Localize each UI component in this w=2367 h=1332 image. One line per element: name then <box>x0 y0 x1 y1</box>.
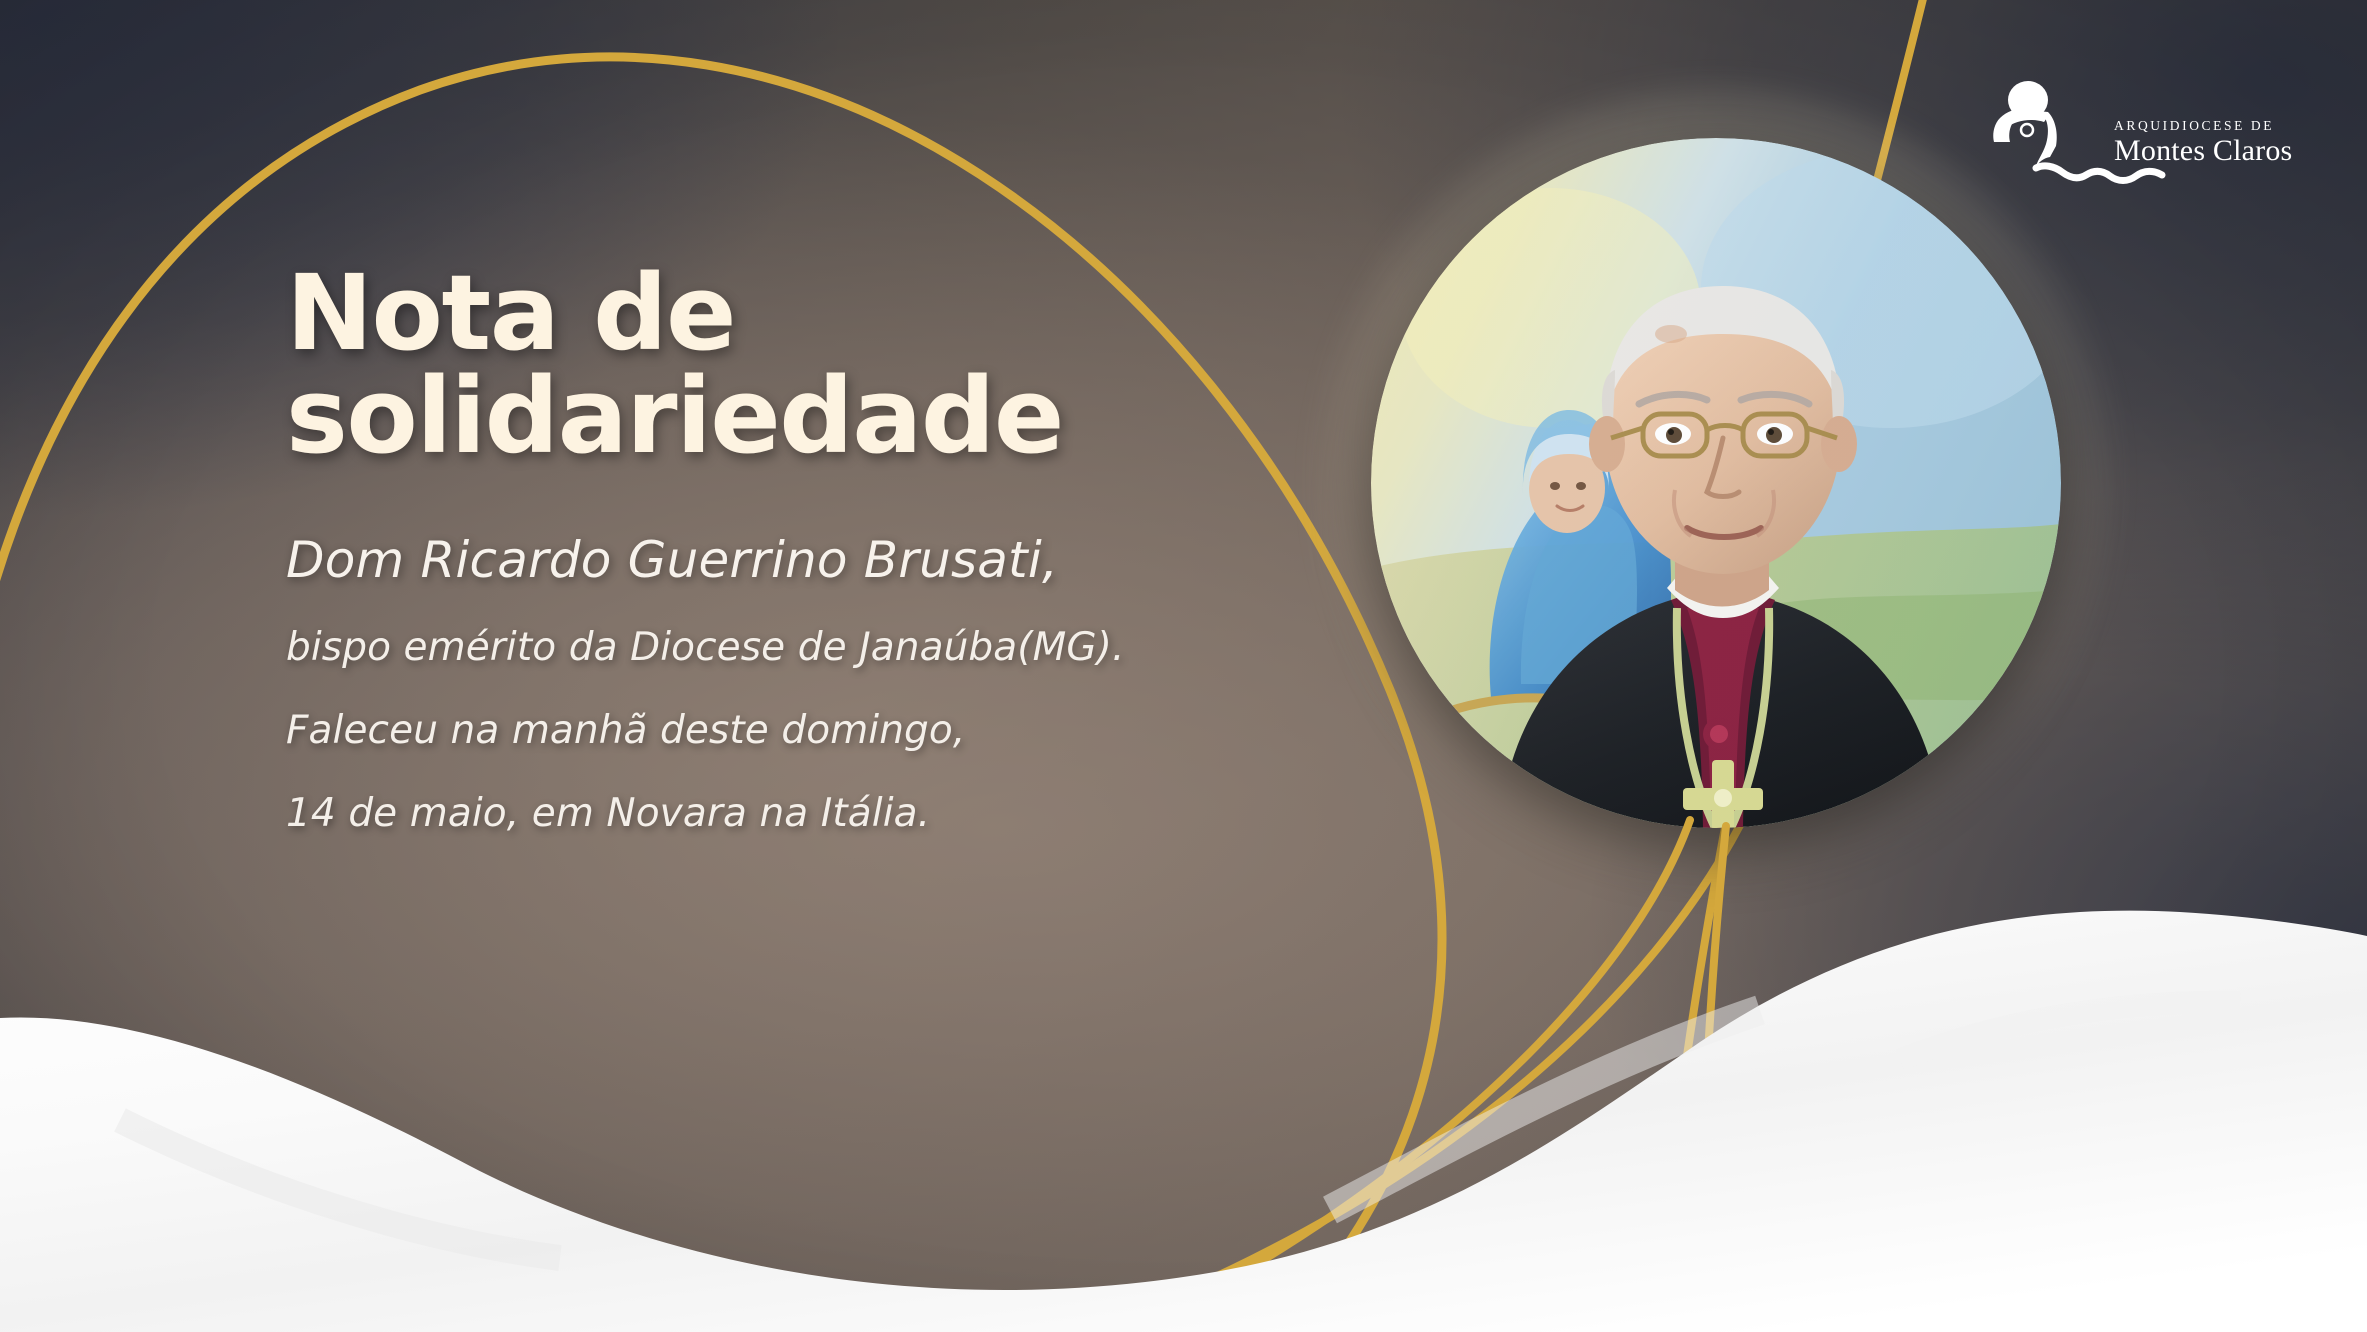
logo-svg: ARQUIDIOCESE DE Montes Claros <box>1986 78 2306 194</box>
logo-eyebrow: ARQUIDIOCESE DE <box>2114 118 2274 133</box>
page-title: Nota de solidariedade <box>286 262 1346 468</box>
deceased-role: bispo emérito da Diocese de Janaúba(MG). <box>286 586 1346 669</box>
logo-name: Montes Claros <box>2114 134 2292 167</box>
arquidiocese-logo: ARQUIDIOCESE DE Montes Claros <box>1986 78 2306 194</box>
headline-line-2: solidariedade <box>286 365 1346 468</box>
wave-shape <box>0 911 2367 1332</box>
deceased-name: Dom Ricardo Guerrino Brusati, <box>286 468 1346 587</box>
death-statement: Faleceu na manhã deste domingo, <box>286 669 1346 752</box>
death-place-date: 14 de maio, em Novara na Itália. <box>286 752 1346 835</box>
text-block: Nota de solidariedade Dom Ricardo Guerri… <box>286 262 1346 835</box>
poster-canvas: Nota de solidariedade Dom Ricardo Guerri… <box>0 0 2367 1332</box>
